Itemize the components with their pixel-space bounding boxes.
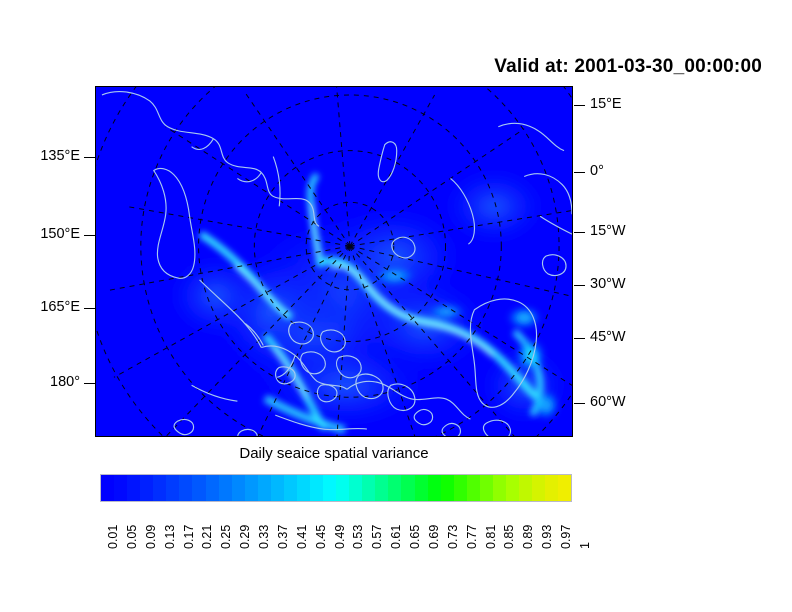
colorbar-tick-label: 0.21 — [200, 525, 214, 549]
colorbar-segment — [467, 475, 480, 501]
colorbar-segment — [336, 475, 349, 501]
colorbar-tick-label: 0.37 — [276, 525, 290, 549]
colorbar-tick-label: 0.49 — [333, 525, 347, 549]
colorbar-segment — [362, 475, 375, 501]
colorbar-segment — [179, 475, 192, 501]
right-axis-tick — [574, 232, 585, 233]
colorbar-tick-label: 0.25 — [219, 525, 233, 549]
right-axis-label: 15°W — [590, 223, 626, 239]
right-axis-tick — [574, 403, 585, 404]
colorbar-tick-label: 0.69 — [427, 525, 441, 549]
right-axis-tick — [574, 285, 585, 286]
colorbar-tick-label: 0.73 — [446, 525, 460, 549]
colorbar-segment — [349, 475, 362, 501]
right-axis-label: 30°W — [590, 276, 626, 292]
right-axis-label: 15°E — [590, 96, 622, 112]
colorbar-segment — [114, 475, 127, 501]
colorbar-segment — [258, 475, 271, 501]
colorbar-tick-label: 0.85 — [502, 525, 516, 549]
left-axis-label: 150°E — [40, 226, 80, 242]
colorbar-segment — [454, 475, 467, 501]
colorbar-segment — [127, 475, 140, 501]
right-axis-tick — [574, 338, 585, 339]
colorbar-segment — [532, 475, 545, 501]
map-field-raster — [96, 87, 572, 436]
colorbar-segment — [415, 475, 428, 501]
colorbar-segment — [271, 475, 284, 501]
colorbar-segment — [480, 475, 493, 501]
left-axis-tick — [84, 308, 95, 309]
colorbar-tick-label: 0.65 — [408, 525, 422, 549]
left-axis-label: 135°E — [40, 148, 80, 164]
colorbar-segment — [401, 475, 414, 501]
colorbar-tick-label: 0.53 — [351, 525, 365, 549]
left-axis-tick — [84, 235, 95, 236]
right-axis-label: 0° — [590, 163, 604, 179]
left-axis-label: 165°E — [40, 299, 80, 315]
colorbar-segment — [519, 475, 532, 501]
colorbar-segment — [545, 475, 558, 501]
page-title: Valid at: 2001-03-30_00:00:00 — [494, 56, 762, 78]
left-axis-tick — [84, 383, 95, 384]
colorbar-tick-label: 0.81 — [484, 525, 498, 549]
colorbar-tick-label: 0.09 — [144, 525, 158, 549]
colorbar-segment — [506, 475, 519, 501]
colorbar-segment — [297, 475, 310, 501]
colorbar-segment — [232, 475, 245, 501]
colorbar-tick-label: 0.93 — [540, 525, 554, 549]
colorbar-segment — [192, 475, 205, 501]
right-axis-tick — [574, 105, 585, 106]
colorbar-segment — [284, 475, 297, 501]
colorbar-segment — [323, 475, 336, 501]
colorbar-segment — [101, 475, 114, 501]
left-axis-tick — [84, 157, 95, 158]
colorbar-tick-label: 0.01 — [106, 525, 120, 549]
colorbar-segment — [206, 475, 219, 501]
map-plot-area — [95, 86, 573, 437]
colorbar-segment — [388, 475, 401, 501]
colorbar — [100, 474, 572, 502]
colorbar-tick-label: 0.29 — [238, 525, 252, 549]
right-axis-tick — [574, 172, 585, 173]
right-axis-label: 60°W — [590, 394, 626, 410]
colorbar-tick-label: 0.97 — [559, 525, 573, 549]
colorbar-segment — [441, 475, 454, 501]
colorbar-tick-label: 0.41 — [295, 525, 309, 549]
colorbar-segment — [245, 475, 258, 501]
colorbar-caption: Daily seaice spatial variance — [95, 445, 573, 462]
colorbar-segment — [166, 475, 179, 501]
colorbar-tick-label: 0.77 — [465, 525, 479, 549]
colorbar-tick-label: 0.33 — [257, 525, 271, 549]
colorbar-segment — [219, 475, 232, 501]
colorbar-segment — [558, 475, 571, 501]
colorbar-tick-label: 0.57 — [370, 525, 384, 549]
colorbar-segment — [153, 475, 166, 501]
colorbar-tick-label: 0.17 — [182, 525, 196, 549]
colorbar-segment — [428, 475, 441, 501]
colorbar-segment — [310, 475, 323, 501]
colorbar-tick-label: 0.13 — [163, 525, 177, 549]
colorbar-tick-label: 1 — [578, 542, 592, 549]
colorbar-segment — [375, 475, 388, 501]
colorbar-tick-label: 0.89 — [521, 525, 535, 549]
colorbar-segment — [140, 475, 153, 501]
colorbar-segment — [493, 475, 506, 501]
right-axis-label: 45°W — [590, 329, 626, 345]
colorbar-tick-label: 0.61 — [389, 525, 403, 549]
left-axis-label: 180° — [50, 374, 80, 390]
colorbar-tick-label: 0.45 — [314, 525, 328, 549]
colorbar-tick-label: 0.05 — [125, 525, 139, 549]
